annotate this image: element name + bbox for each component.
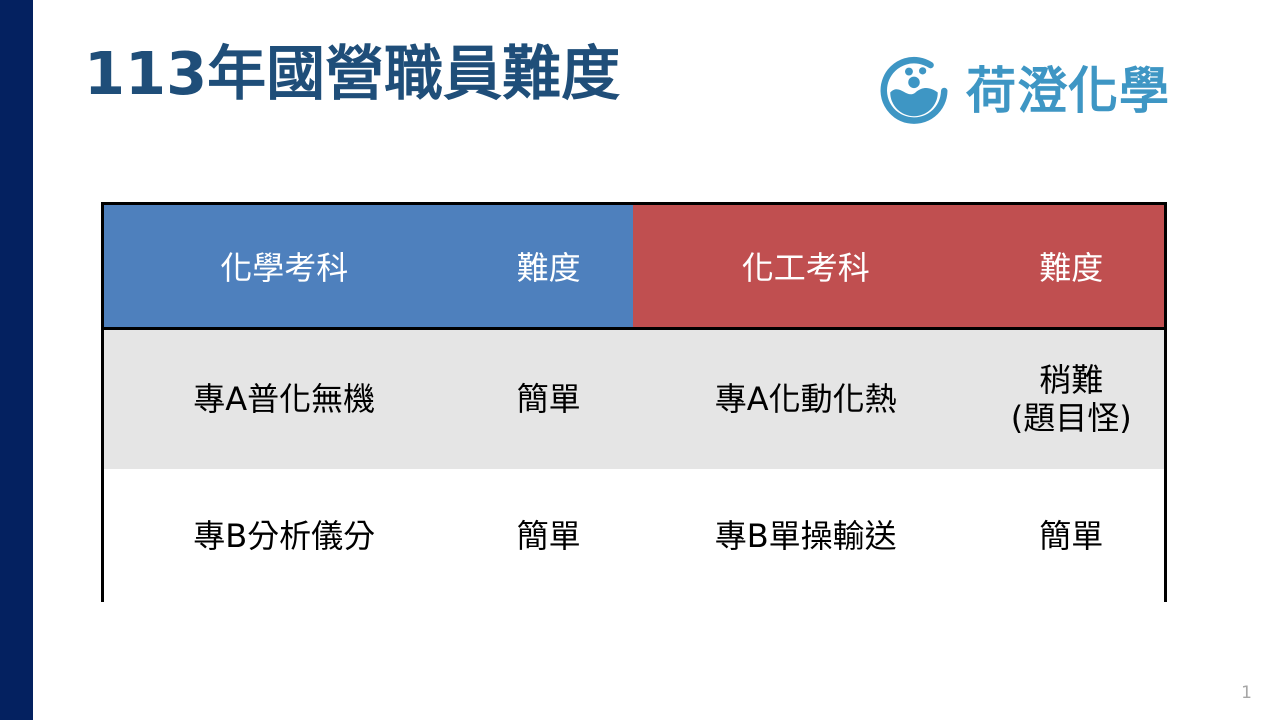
cell-chemeng-subject: 專B單操輸送 — [633, 469, 979, 605]
cell-chemeng-level-line-2: (題目怪) — [978, 400, 1164, 438]
circle-wave-bubbles-icon — [878, 55, 950, 127]
cell-chemeng-level-lines: 簡單 — [978, 518, 1164, 556]
column-header-chemistry-subject: 化學考科 — [104, 205, 464, 329]
page-title: 113年國營職員難度 — [84, 42, 620, 106]
page-number: 1 — [1241, 685, 1252, 702]
cell-chemeng-level-lines: 稍難 (題目怪) — [978, 362, 1164, 438]
cell-chemeng-subject: 專A化動化熱 — [633, 329, 979, 470]
column-header-chemeng-level: 難度 — [978, 205, 1164, 329]
cell-chemistry-subject: 專B分析儀分 — [104, 469, 464, 605]
left-accent-bar — [0, 0, 33, 720]
brand-name: 荷澄化學 — [966, 66, 1170, 116]
cell-chemeng-level-line-1: 稍難 — [1039, 361, 1103, 399]
table-body: 專A普化無機 簡單 專A化動化熱 稍難 (題目怪) 專B分析儀分 簡單 專B單操… — [104, 329, 1164, 606]
cell-chemistry-level: 簡單 — [464, 329, 633, 470]
cell-chemeng-level: 稍難 (題目怪) — [978, 329, 1164, 470]
cell-chemeng-level-line-1: 簡單 — [1039, 517, 1103, 555]
table-header-row: 化學考科 難度 化工考科 難度 — [104, 205, 1164, 329]
table-row: 專A普化無機 簡單 專A化動化熱 稍難 (題目怪) — [104, 329, 1164, 470]
cell-chemeng-level: 簡單 — [978, 469, 1164, 605]
column-header-chemistry-level: 難度 — [464, 205, 633, 329]
brand-logo: 荷澄化學 — [878, 55, 1170, 127]
table-header: 化學考科 難度 化工考科 難度 — [104, 205, 1164, 329]
cell-chemistry-level: 簡單 — [464, 469, 633, 605]
difficulty-table-container: 化學考科 難度 化工考科 難度 專A普化無機 簡單 專A化動化熱 稍難 (題目怪… — [101, 202, 1167, 602]
difficulty-table: 化學考科 難度 化工考科 難度 專A普化無機 簡單 專A化動化熱 稍難 (題目怪… — [104, 205, 1164, 605]
column-header-chemeng-subject: 化工考科 — [633, 205, 979, 329]
table-row: 專B分析儀分 簡單 專B單操輸送 簡單 — [104, 469, 1164, 605]
slide: 113年國營職員難度 荷澄化學 化學考科 難度 — [0, 0, 1280, 720]
cell-chemistry-subject: 專A普化無機 — [104, 329, 464, 470]
